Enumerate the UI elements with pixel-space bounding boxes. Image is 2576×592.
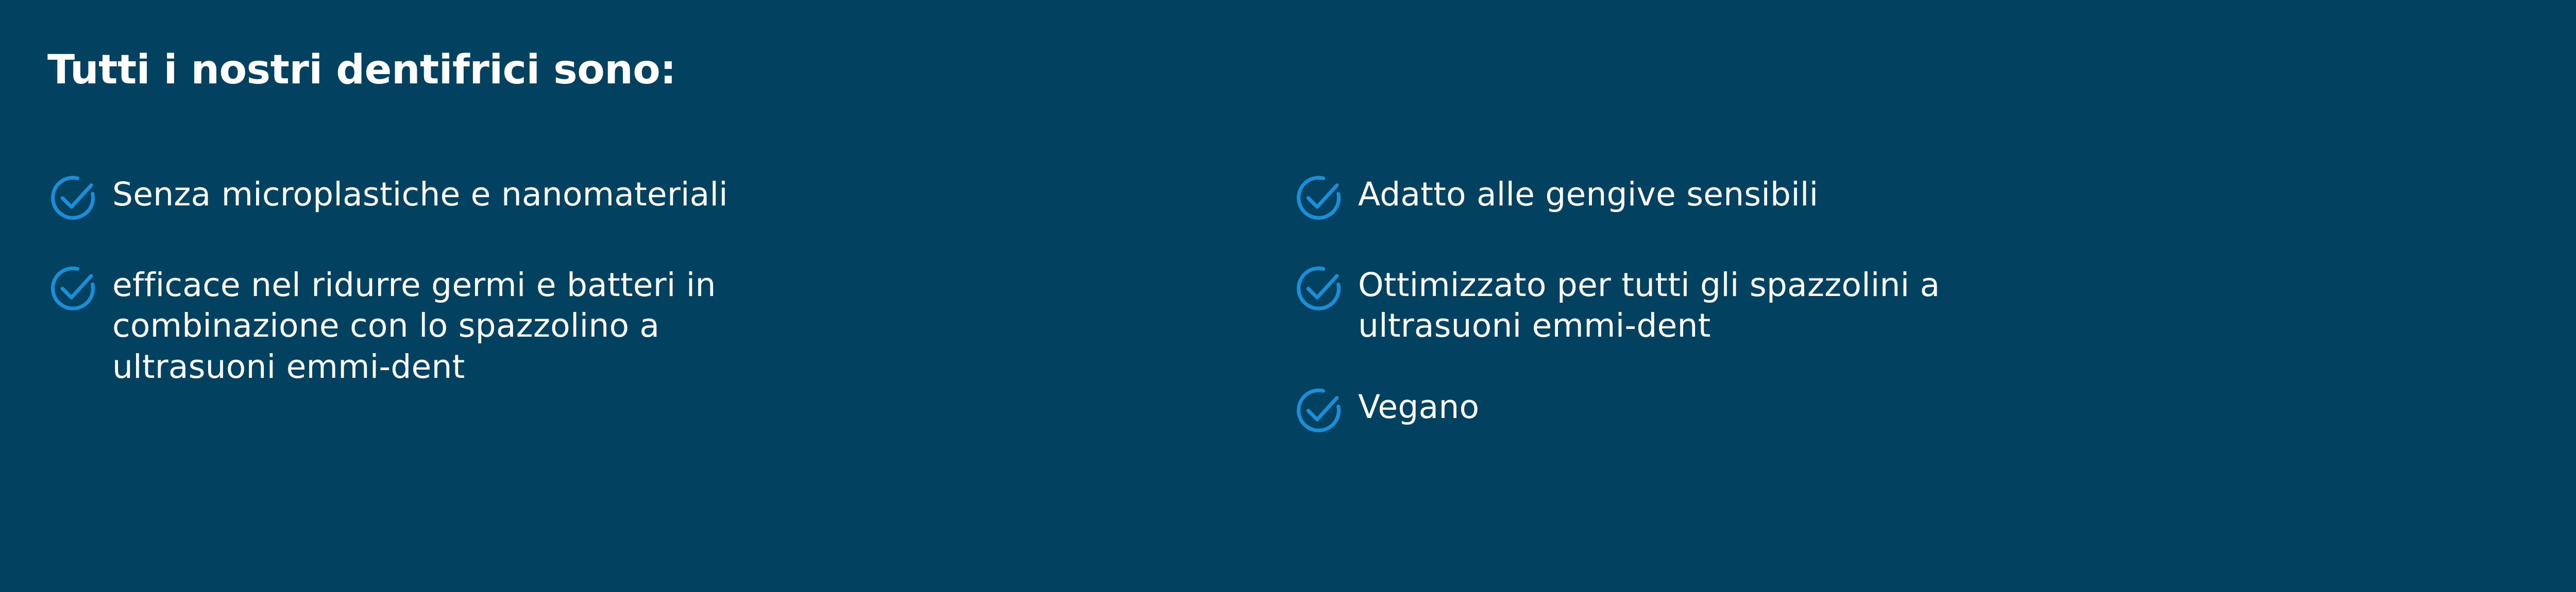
feature-line: ultrasuoni emmi-dent (112, 346, 716, 387)
feature-line: ultrasuoni emmi-dent (1358, 305, 1940, 346)
page-title: Tutti i nostri dentifrici sono: (47, 49, 676, 92)
feature-item: Adatto alle gengive sensibili (1293, 170, 2524, 224)
feature-column-left: Senza microplastiche e nanomateriali eff… (0, 170, 1247, 387)
feature-line: Adatto alle gengive sensibili (1358, 174, 1818, 215)
feature-line: Vegano (1358, 387, 1479, 427)
feature-item: Senza microplastiche e nanomateriali (47, 170, 1247, 224)
check-circle-icon (1293, 262, 1347, 315)
feature-line: combinazione con lo spazzolino a (112, 305, 716, 346)
feature-column-right: Adatto alle gengive sensibili Ottimizzat… (1247, 170, 2524, 437)
feature-text: Vegano (1358, 382, 1479, 427)
feature-line: Senza microplastiche e nanomateriali (112, 174, 728, 215)
feature-text: efficace nel ridurre germi e batteri in … (112, 260, 716, 387)
feature-text: Ottimizzato per tutti gli spazzolini a u… (1358, 260, 1940, 346)
check-circle-icon (1293, 384, 1347, 437)
feature-panel: Tutti i nostri dentifrici sono: Senza mi… (0, 0, 2576, 592)
feature-item: Vegano (1293, 382, 2524, 437)
feature-item: efficace nel ridurre germi e batteri in … (47, 260, 1247, 387)
feature-text: Adatto alle gengive sensibili (1358, 170, 1818, 215)
check-circle-icon (47, 262, 101, 315)
feature-item: Ottimizzato per tutti gli spazzolini a u… (1293, 260, 2524, 346)
feature-columns: Senza microplastiche e nanomateriali eff… (0, 170, 2576, 437)
feature-line: Ottimizzato per tutti gli spazzolini a (1358, 265, 1940, 305)
check-circle-icon (1293, 171, 1347, 224)
feature-line: efficace nel ridurre germi e batteri in (112, 265, 716, 305)
feature-text: Senza microplastiche e nanomateriali (112, 170, 728, 215)
check-circle-icon (47, 171, 101, 224)
